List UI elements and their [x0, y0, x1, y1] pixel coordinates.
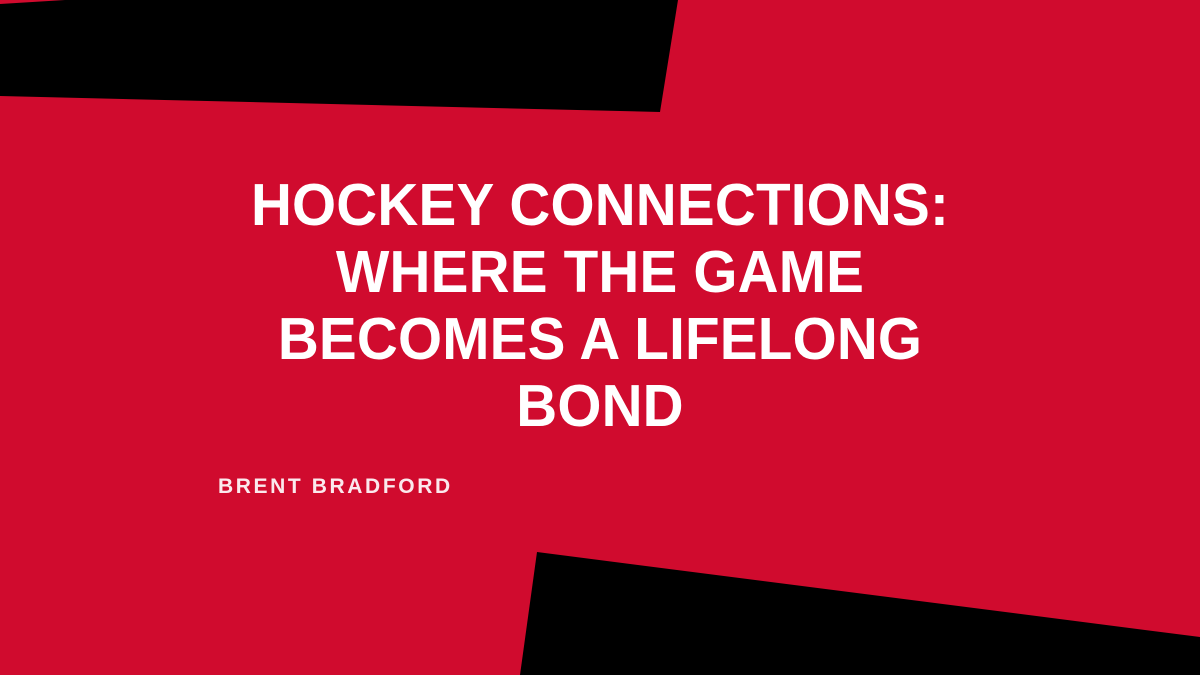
page-title: HOCKEY CONNECTIONS: WHERE THE GAME BECOM…	[0, 172, 1200, 440]
slide-content: HOCKEY CONNECTIONS: WHERE THE GAME BECOM…	[0, 0, 1200, 675]
title-line-2: WHERE THE GAME	[24, 239, 1176, 306]
author-byline: BRENT BRADFORD	[218, 474, 453, 500]
title-line-3: BECOMES A LIFELONG	[24, 306, 1176, 373]
title-slide: HOCKEY CONNECTIONS: WHERE THE GAME BECOM…	[0, 0, 1200, 675]
title-line-4: BOND	[24, 373, 1176, 440]
title-line-1: HOCKEY CONNECTIONS:	[24, 172, 1176, 239]
